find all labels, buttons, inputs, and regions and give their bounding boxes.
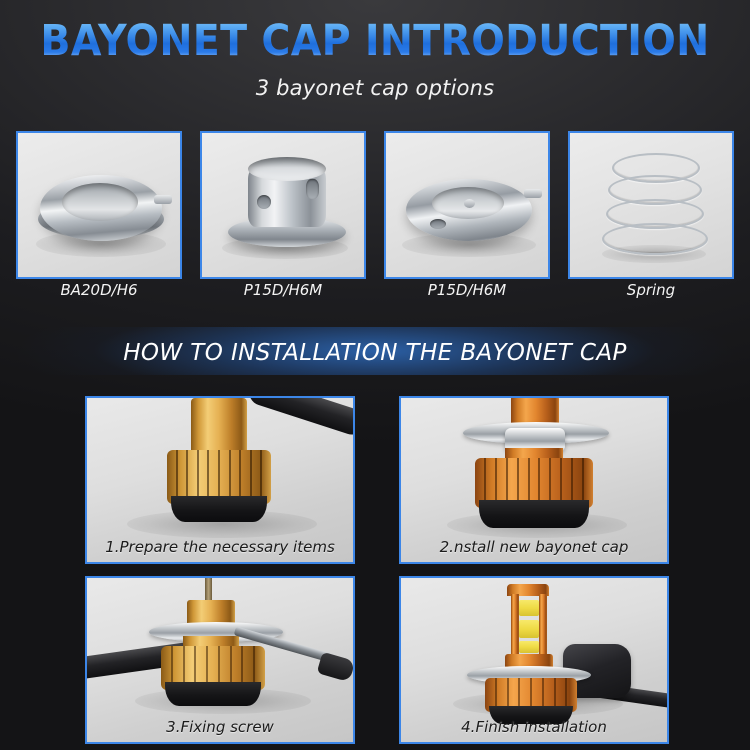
step-caption-2: 2.nstall new bayonet cap [401, 538, 667, 556]
cap-label-4: Spring [568, 281, 734, 299]
cap-label-1: BA20D/H6 [16, 281, 182, 299]
cap-option-1[interactable]: BA20D/H6 [16, 131, 182, 279]
led-rail-left [511, 594, 519, 656]
cylinder-hole-left [257, 195, 271, 209]
flat-ring-notch [430, 219, 446, 229]
flat-ring-dot-shape [464, 199, 475, 208]
ring-tab-shape [154, 195, 172, 204]
cylinder-hole-right [306, 179, 319, 199]
page-subtitle: 3 bayonet cap options [0, 76, 750, 100]
bulb-black-base [479, 500, 589, 528]
cob-chip-mid [519, 620, 539, 638]
bulb-cable [246, 396, 355, 438]
step-caption-4: 4.Finish installation [401, 718, 667, 736]
infographic-page: BAYONET CAP INTRODUCTION 3 bayonet cap o… [0, 0, 750, 750]
section-title: HOW TO INSTALLATION THE BAYONET CAP [0, 340, 750, 366]
page-title: BAYONET CAP INTRODUCTION [30, 16, 720, 66]
bulb-body [191, 398, 247, 454]
cob-chip-top [519, 600, 539, 616]
install-step-3[interactable]: 3.Fixing screw [85, 576, 355, 744]
cap-label-3: P15D/H6M [384, 281, 550, 299]
spring-coil-4 [602, 223, 708, 255]
cap-photo-2 [200, 131, 366, 279]
cap-photo-1 [16, 131, 182, 279]
led-rail-right [539, 594, 547, 656]
step-caption-1: 1.Prepare the necessary items [87, 538, 353, 556]
cap-option-3[interactable]: P15D/H6M [384, 131, 550, 279]
cylinder-top-shape [248, 157, 326, 181]
cap-photo-3 [384, 131, 550, 279]
install-step-1[interactable]: 1.Prepare the necessary items [85, 396, 355, 564]
cap-option-4[interactable]: Spring [568, 131, 734, 279]
flat-ring-tab-shape [524, 189, 542, 198]
cap-options-row: BA20D/H6 P15D/H6M P1 [0, 131, 750, 279]
screwdriver-handle [317, 652, 355, 683]
install-step-2[interactable]: 2.nstall new bayonet cap [399, 396, 669, 564]
cob-chip-bottom [519, 641, 539, 653]
bulb-black-base [165, 682, 261, 706]
install-step-4[interactable]: 4.Finish installation [399, 576, 669, 744]
cap-photo-4 [568, 131, 734, 279]
bulb-black-base [171, 496, 267, 522]
step-caption-3: 3.Fixing screw [87, 718, 353, 736]
ring-inner-shape [62, 183, 138, 221]
cap-label-2: P15D/H6M [200, 281, 366, 299]
cap-option-2[interactable]: P15D/H6M [200, 131, 366, 279]
